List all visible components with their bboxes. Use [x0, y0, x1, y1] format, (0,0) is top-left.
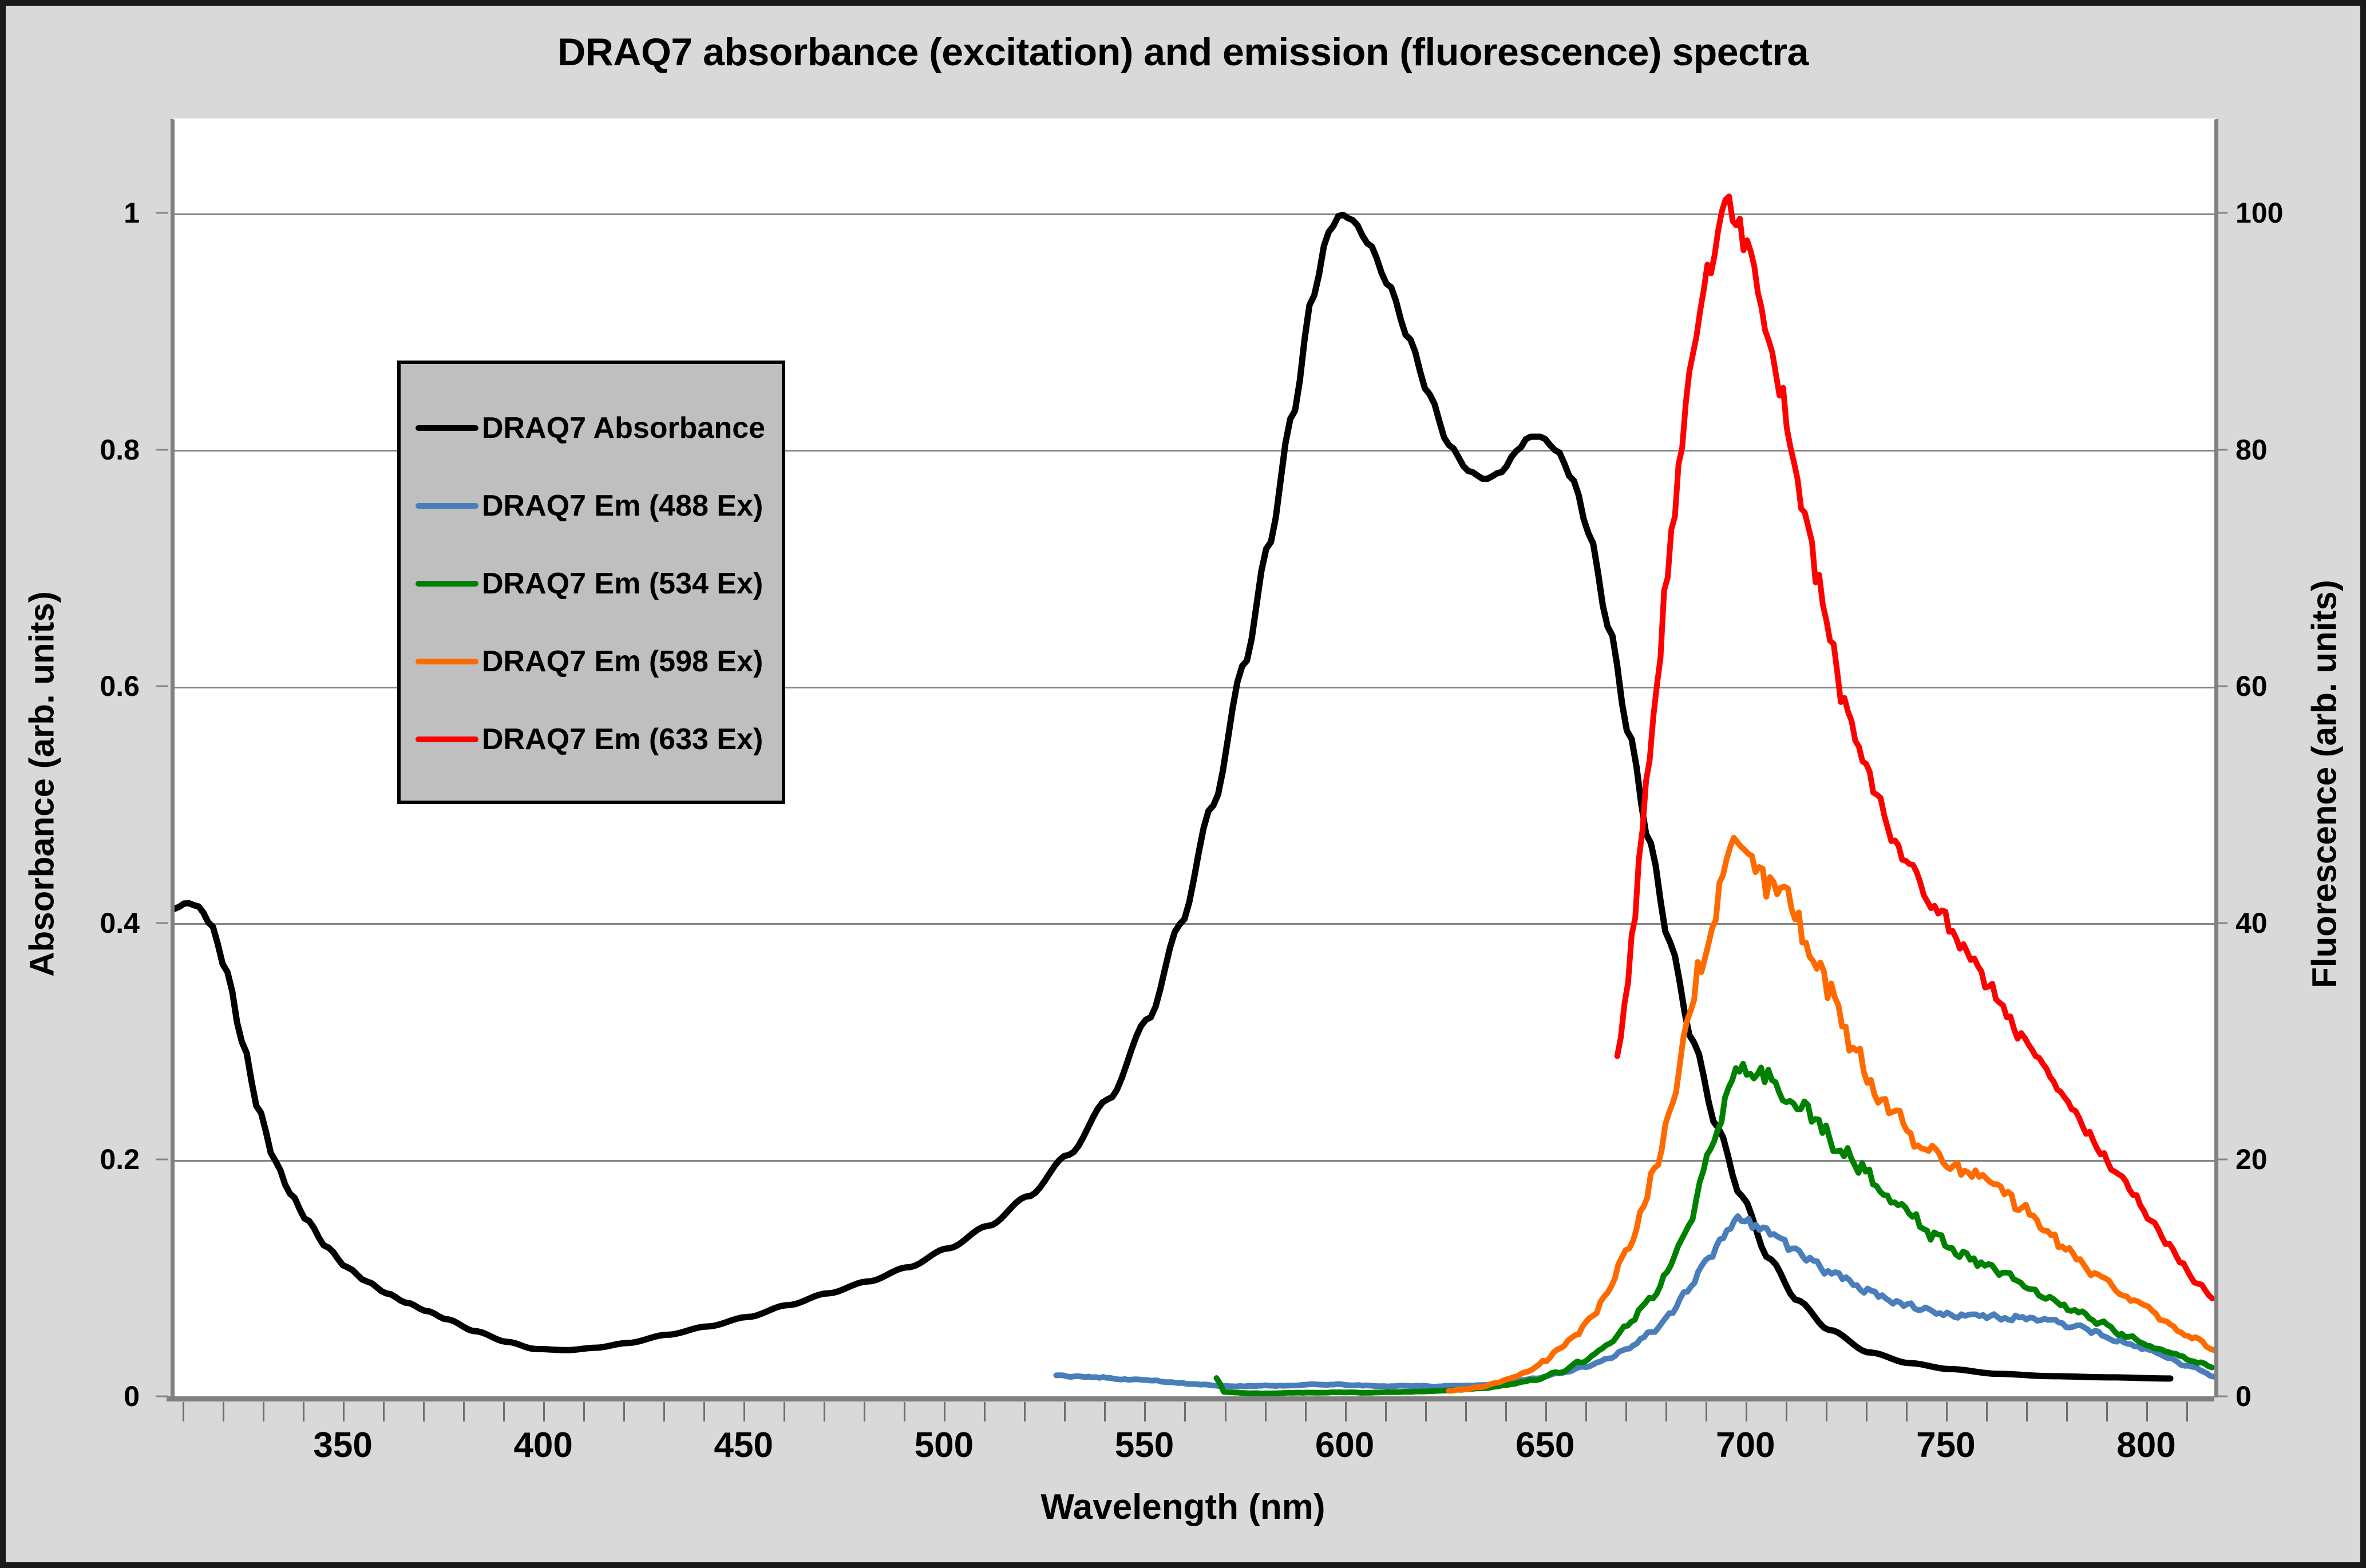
x-axis-minor-tickmark [1946, 1402, 1948, 1422]
x-axis-minor-tickmark [423, 1402, 425, 1422]
x-axis-minor-tickmark [1585, 1402, 1587, 1422]
y-axis-right-title-container: Fluorescence (arb. units) [2298, 469, 2350, 1099]
y-axis-left-tick-label: 0 [124, 1380, 140, 1413]
x-axis-minor-tickmark [2186, 1402, 2188, 1422]
y-axis-right-tick-label: 0 [2236, 1380, 2252, 1413]
y-axis-left-tick-label: 0.8 [100, 433, 140, 466]
x-axis-minor-tickmark [1225, 1402, 1226, 1422]
y-axis-left-title-container: Absorbance (arb. units) [16, 469, 68, 1099]
legend-item[interactable]: DRAQ7 Em (633 Ex) [401, 700, 782, 778]
legend-swatch-em-534 [416, 581, 478, 587]
x-axis-minor-tickmark [543, 1402, 545, 1422]
x-axis-minor-tickmark [1144, 1402, 1146, 1422]
x-axis-tick-label: 500 [915, 1425, 974, 1466]
x-axis-minor-tickmark [864, 1402, 865, 1422]
y-axis-right-title: Fluorescence (arb. units) [2305, 580, 2344, 988]
y-axis-left-tickmark [156, 212, 168, 214]
legend-swatch-em-598 [416, 659, 478, 664]
x-axis-minor-tickmark [1104, 1402, 1106, 1422]
y-axis-left-title: Absorbance (arb. units) [22, 591, 62, 976]
x-axis-tick-label: 400 [513, 1425, 572, 1466]
y-axis-right-tick-label: 40 [2236, 906, 2268, 940]
y-axis-left-tickmark [156, 922, 168, 924]
x-axis-tick-label: 750 [1916, 1425, 1975, 1466]
legend-label: DRAQ7 Absorbance [482, 411, 765, 445]
x-axis-minor-tickmark [1866, 1402, 1868, 1422]
legend-label: DRAQ7 Em (633 Ex) [482, 722, 763, 757]
x-axis-minor-tickmark [1265, 1402, 1267, 1422]
series-line-5 [1617, 196, 2213, 1298]
x-axis-minor-tickmark [623, 1402, 625, 1422]
x-axis-minor-tickmark [2146, 1402, 2148, 1422]
y-axis-left-tick-label: 0.6 [100, 670, 140, 703]
x-axis-minor-tickmark [1064, 1402, 1066, 1422]
x-axis-title: Wavelength (nm) [6, 1487, 2360, 1527]
x-axis-tick-label: 350 [313, 1425, 372, 1466]
x-axis-minor-tickmark [2026, 1402, 2028, 1422]
legend-label: DRAQ7 Em (598 Ex) [482, 644, 763, 679]
x-axis-minor-tickmark [1024, 1402, 1026, 1422]
x-axis-minor-tickmark [1425, 1402, 1427, 1422]
y-axis-right-tick-label: 80 [2236, 433, 2268, 466]
x-axis-minor-tickmark [1746, 1402, 1747, 1422]
x-axis-minor-tickmark [1665, 1402, 1667, 1422]
x-axis-minor-tickmark [583, 1402, 585, 1422]
y-axis-left-tick-label: 0.2 [100, 1143, 140, 1176]
x-axis-minor-tickmark [2066, 1402, 2068, 1422]
x-axis-minor-tickmark [343, 1402, 345, 1422]
x-axis-minor-tickmark [904, 1402, 905, 1422]
x-axis-line [167, 1396, 2214, 1401]
legend-label: DRAQ7 Em (534 Ex) [482, 567, 763, 601]
y-axis-right-tick-label: 100 [2236, 196, 2283, 229]
x-axis-minor-tickmark [663, 1402, 665, 1422]
legend-swatch-em-633 [416, 737, 478, 742]
x-axis-minor-tickmark [743, 1402, 745, 1422]
x-axis-minor-tickmark [1986, 1402, 1988, 1422]
y-axis-right-tick-label: 20 [2236, 1143, 2268, 1176]
y-axis-right-tick-label: 60 [2236, 670, 2268, 703]
x-axis-minor-tickmark [1706, 1402, 1707, 1422]
x-axis-minor-tickmark [463, 1402, 465, 1422]
y-axis-left-tick-label: 1 [124, 196, 140, 229]
x-axis-minor-tickmark [824, 1402, 825, 1422]
x-axis-tick-label: 600 [1315, 1425, 1374, 1466]
legend-swatch-em-488 [416, 503, 478, 509]
legend-label: DRAQ7 Em (488 Ex) [482, 489, 763, 523]
legend-item[interactable]: DRAQ7 Em (534 Ex) [401, 545, 782, 623]
x-axis-minor-tickmark [1786, 1402, 1787, 1422]
x-axis-minor-tickmark [984, 1402, 986, 1422]
x-axis-minor-tickmark [1184, 1402, 1186, 1422]
chart-legend: DRAQ7 Absorbance DRAQ7 Em (488 Ex) DRAQ7… [397, 361, 785, 804]
x-axis-minor-tickmark [1305, 1402, 1307, 1422]
chart-figure: DRAQ7 absorbance (excitation) and emissi… [0, 0, 2366, 1568]
legend-item[interactable]: DRAQ7 Em (488 Ex) [401, 467, 782, 545]
x-axis-minor-tickmark [503, 1402, 505, 1422]
x-axis-tick-label: 800 [2116, 1425, 2175, 1466]
x-axis-tick-label: 450 [714, 1425, 773, 1466]
y-axis-left-tickmark [156, 686, 168, 687]
x-axis-minor-tickmark [1465, 1402, 1467, 1422]
x-axis-minor-tickmark [303, 1402, 304, 1422]
x-axis-minor-tickmark [1545, 1402, 1547, 1422]
x-axis-minor-tickmark [383, 1402, 385, 1422]
x-axis-tick-label: 550 [1115, 1425, 1174, 1466]
x-axis-minor-tickmark [703, 1402, 705, 1422]
legend-item[interactable]: DRAQ7 Em (598 Ex) [401, 623, 782, 700]
series-line-4 [1449, 838, 2214, 1391]
x-axis-minor-tickmark [2106, 1402, 2108, 1422]
x-axis-minor-tickmark [944, 1402, 945, 1422]
x-axis-minor-tickmark [784, 1402, 785, 1422]
x-axis-minor-tickmark [1826, 1402, 1827, 1422]
x-axis-minor-tickmark [263, 1402, 264, 1422]
x-axis-minor-tickmark [223, 1402, 224, 1422]
x-axis-tick-label: 700 [1716, 1425, 1775, 1466]
x-axis-tick-label: 650 [1516, 1425, 1574, 1466]
x-axis-minor-tickmark [1906, 1402, 1908, 1422]
x-axis-minor-tickmark [1345, 1402, 1347, 1422]
legend-item[interactable]: DRAQ7 Absorbance [401, 389, 782, 467]
x-axis-minor-tickmark [1625, 1402, 1627, 1422]
x-axis-minor-tickmark [1505, 1402, 1507, 1422]
x-axis-minor-tickmark [1385, 1402, 1387, 1422]
x-axis-minor-tickmark [183, 1402, 184, 1422]
y-axis-left-tickmark [156, 449, 168, 450]
legend-swatch-absorbance [416, 425, 478, 431]
chart-title: DRAQ7 absorbance (excitation) and emissi… [6, 30, 2360, 74]
y-axis-left-tick-label: 0.4 [100, 906, 140, 940]
y-axis-left-tickmark [156, 1159, 168, 1161]
